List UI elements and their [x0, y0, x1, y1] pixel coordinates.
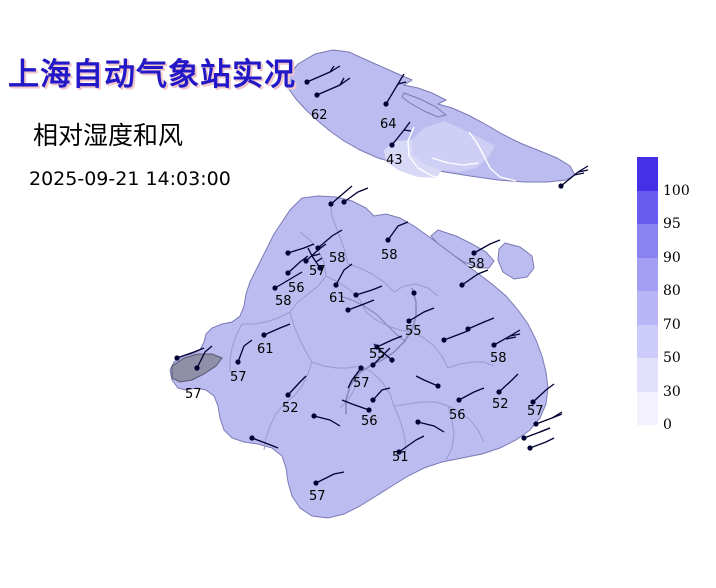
station-value: 61: [329, 291, 346, 306]
legend-tick-80: 80: [663, 284, 681, 298]
station-value: 58: [490, 351, 507, 366]
station-value: 57: [309, 264, 326, 279]
station-value: 56: [361, 414, 378, 429]
legend-tick-50: 50: [663, 351, 681, 365]
weather-map-page: 62 64 43 58 58 58 57 56 58 61 55 55 57 5…: [0, 0, 716, 588]
station-value: 52: [492, 397, 509, 412]
legend-band-0: [637, 392, 658, 426]
station-value: 57: [527, 404, 544, 419]
station-value: 58: [468, 257, 485, 272]
station-value: 51: [392, 450, 409, 465]
legend-colorbar: [637, 157, 658, 425]
legend-tick-95: 95: [663, 217, 681, 231]
legend-tick-0: 0: [663, 418, 672, 432]
station-s22d[interactable]: [527, 438, 554, 451]
page-title-logo: 上海自动气象站实况: [8, 54, 278, 96]
station-value: 61: [257, 342, 274, 357]
observation-timestamp: 2025-09-21 14:03:00: [29, 167, 231, 191]
legend-tick-30: 30: [663, 385, 681, 399]
legend-band-50: [637, 325, 658, 359]
legend-tick-100: 100: [663, 184, 690, 198]
legend-band-80: [637, 258, 658, 292]
station-value: 56: [449, 408, 466, 423]
legend-band-70: [637, 291, 658, 325]
legend-band-100: [637, 157, 658, 191]
station-value: 55: [369, 347, 386, 362]
station-value: 57: [353, 376, 370, 391]
station-value: 58: [329, 251, 346, 266]
station-value: 64: [380, 117, 397, 132]
station-value: 57: [309, 489, 326, 504]
station-value: 58: [275, 294, 292, 309]
legend-band-95: [637, 191, 658, 225]
station-value: 57: [230, 370, 247, 385]
station-value: 62: [311, 108, 328, 123]
legend-band-30: [637, 358, 658, 392]
station-value: 55: [405, 324, 422, 339]
region-hengsha-island: [498, 243, 534, 279]
station-s10d[interactable]: [411, 290, 416, 295]
legend-band-90: [637, 224, 658, 258]
legend-tick-90: 90: [663, 251, 681, 265]
page-subtitle: 相对湿度和风: [33, 121, 183, 151]
station-value: 43: [386, 153, 403, 168]
station-value: 58: [381, 248, 398, 263]
station-value: 57: [185, 387, 202, 402]
station-value: 52: [282, 401, 299, 416]
legend-tick-70: 70: [663, 318, 681, 332]
color-legend: 1009590807050300: [637, 157, 709, 432]
